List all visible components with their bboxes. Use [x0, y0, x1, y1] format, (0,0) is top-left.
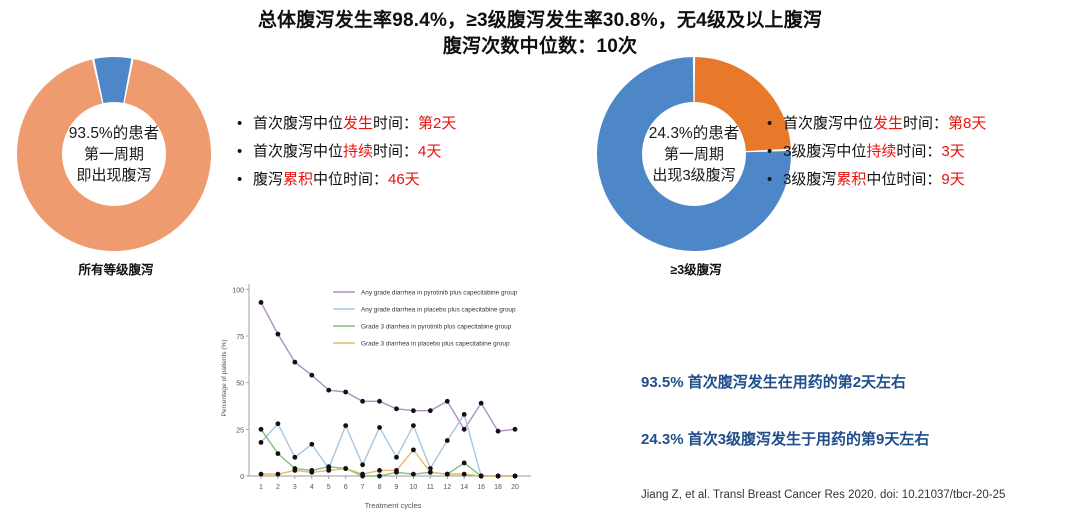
bullet-value: 9天	[941, 171, 964, 188]
data-point	[377, 474, 382, 479]
donut-all-grade-caption: 所有等级腹泻	[16, 259, 216, 278]
bullet-prefix: 3级腹泻	[783, 171, 836, 188]
bullet-text: 3级腹泻中位持续时间：3天	[783, 138, 965, 166]
bullet-middle: 时间：	[903, 115, 948, 132]
legend-label: Any grade diarrhea in placebo plus capec…	[361, 307, 516, 314]
donut-all-center-line-2: 第一周期	[84, 144, 144, 165]
bullet-keyword: 发生	[873, 115, 903, 132]
data-point	[292, 468, 297, 473]
x-tick-label: 7	[361, 484, 365, 491]
bullet-text: 3级腹泻累积中位时间：9天	[783, 166, 965, 194]
data-point	[496, 429, 501, 434]
data-point	[259, 427, 264, 432]
data-point	[309, 442, 314, 447]
bullet-middle: 中位时间：	[313, 171, 388, 188]
bullet-keyword: 持续	[343, 143, 373, 160]
donut-chart-all-grade: 93.5%的患者 第一周期 即出现腹泻 所有等级腹泻	[16, 56, 216, 278]
data-point	[428, 470, 433, 475]
data-point	[326, 388, 331, 393]
data-point	[276, 332, 281, 337]
data-point	[377, 468, 382, 473]
x-tick-label: 4	[310, 484, 314, 491]
bullet-list-all-grade: •首次腹泻中位发生时间：第2天•首次腹泻中位持续时间：4天•腹泻累积中位时间：4…	[237, 110, 456, 194]
donut-g3-center-line-1: 24.3%的患者	[649, 123, 739, 144]
x-tick-label: 8	[378, 484, 382, 491]
x-axis-label: Treatment cycles	[365, 501, 422, 510]
donut-grade3-caption: ≥3级腹泻	[596, 259, 796, 278]
data-point	[411, 472, 416, 477]
data-point	[360, 462, 365, 467]
line-chart-svg: 0255075100Percentage of patients (%)1234…	[215, 268, 545, 518]
bullet-text: 腹泻累积中位时间：46天	[253, 166, 420, 194]
x-tick-label: 3	[293, 484, 297, 491]
data-point	[259, 300, 264, 305]
data-point	[360, 399, 365, 404]
data-point	[394, 455, 399, 460]
data-point	[496, 474, 501, 479]
y-tick-label: 25	[236, 427, 244, 434]
legend-label: Grade 3 diarrhea in placebo plus capecit…	[361, 341, 510, 348]
donut-grade3-center-label: 24.3%的患者 第一周期 出现3级腹泻	[596, 56, 792, 252]
data-point	[513, 474, 518, 479]
data-point	[377, 399, 382, 404]
x-tick-label: 6	[344, 484, 348, 491]
data-point	[343, 390, 348, 395]
citation-text: Jiang Z, et al. Transl Breast Cancer Res…	[641, 489, 1005, 501]
donut-all-center-line-3: 即出现腹泻	[76, 165, 151, 186]
bullet-text: 首次腹泻中位持续时间：4天	[253, 138, 441, 166]
data-point	[411, 447, 416, 452]
x-tick-label: 10	[410, 484, 418, 491]
data-point	[276, 472, 281, 477]
x-tick-label: 1	[259, 484, 263, 491]
donut-g3-center-line-2: 第一周期	[664, 144, 724, 165]
data-point	[479, 401, 484, 406]
bullet-keyword: 发生	[343, 115, 373, 132]
x-tick-label: 2	[276, 484, 280, 491]
data-point	[292, 360, 297, 365]
data-point	[326, 468, 331, 473]
bullet-middle: 时间：	[373, 115, 418, 132]
bullet-keyword: 持续	[866, 143, 896, 160]
data-point	[292, 455, 297, 460]
series-line	[261, 302, 515, 431]
data-point	[343, 466, 348, 471]
bullet-grade3-item: •首次腹泻中位发生时间：第8天	[767, 110, 986, 138]
data-point	[394, 468, 399, 473]
data-point	[462, 472, 467, 477]
legend-label: Grade 3 diarrhea in pyrotinib plus capec…	[361, 324, 512, 331]
donut-all-grade-ring: 93.5%的患者 第一周期 即出现腹泻	[16, 56, 212, 252]
bullet-all-grade-item: •首次腹泻中位持续时间：4天	[237, 138, 456, 166]
y-tick-label: 100	[232, 287, 244, 294]
summary-note-1: 93.5% 首次腹泻发生在用药的第2天左右	[641, 371, 906, 392]
y-axis-label: Percentage of patients (%)	[221, 340, 228, 417]
data-point	[462, 427, 467, 432]
data-point	[309, 373, 314, 378]
data-point	[259, 440, 264, 445]
bullet-middle: 时间：	[373, 143, 418, 160]
bullet-keyword: 累积	[283, 171, 313, 188]
data-point	[394, 406, 399, 411]
bullet-value: 3天	[941, 143, 964, 160]
line-chart-diarrhea-by-cycle: 0255075100Percentage of patients (%)1234…	[215, 268, 545, 518]
bullet-middle: 时间：	[896, 143, 941, 160]
bullet-all-grade-item: •首次腹泻中位发生时间：第2天	[237, 110, 456, 138]
donut-all-center-line-1: 93.5%的患者	[69, 123, 159, 144]
data-point	[343, 423, 348, 428]
page-title: 总体腹泻发生率98.4%，≥3级腹泻发生率30.8%，无4级及以上腹泻 腹泻次数…	[0, 8, 1080, 60]
x-tick-label: 9	[395, 484, 399, 491]
data-point	[445, 438, 450, 443]
donut-g3-center-line-3: 出现3级腹泻	[652, 165, 735, 186]
series-line	[261, 429, 515, 476]
bullet-dot-icon: •	[767, 166, 783, 194]
data-point	[309, 470, 314, 475]
bullet-value: 第2天	[418, 115, 456, 132]
data-point	[445, 399, 450, 404]
x-tick-label: 12	[443, 484, 451, 491]
bullet-list-grade3: •首次腹泻中位发生时间：第8天•3级腹泻中位持续时间：3天•3级腹泻累积中位时间…	[767, 110, 986, 194]
data-point	[276, 451, 281, 456]
bullet-value: 4天	[418, 143, 441, 160]
bullet-dot-icon: •	[237, 138, 253, 166]
bullet-prefix: 首次腹泻中位	[783, 115, 873, 132]
series-line	[261, 414, 515, 476]
bullet-dot-icon: •	[767, 138, 783, 166]
data-point	[411, 408, 416, 413]
donut-chart-grade3: 24.3%的患者 第一周期 出现3级腹泻 ≥3级腹泻	[596, 56, 796, 278]
data-point	[462, 412, 467, 417]
x-tick-label: 16	[477, 484, 485, 491]
x-tick-label: 20	[511, 484, 519, 491]
bullet-dot-icon: •	[237, 110, 253, 138]
data-point	[513, 427, 518, 432]
bullet-prefix: 首次腹泻中位	[253, 143, 343, 160]
bullet-prefix: 3级腹泻中位	[783, 143, 866, 160]
bullet-prefix: 首次腹泻中位	[253, 115, 343, 132]
bullet-value: 第8天	[948, 115, 986, 132]
bullet-grade3-item: •3级腹泻中位持续时间：3天	[767, 138, 986, 166]
data-point	[360, 472, 365, 477]
data-point	[276, 421, 281, 426]
data-point	[377, 425, 382, 430]
slide-root: 总体腹泻发生率98.4%，≥3级腹泻发生率30.8%，无4级及以上腹泻 腹泻次数…	[0, 0, 1080, 520]
bullet-dot-icon: •	[237, 166, 253, 194]
summary-note-2: 24.3% 首次3级腹泻发生于用药的第9天左右	[641, 428, 929, 449]
bullet-value: 46天	[388, 171, 420, 188]
legend-label: Any grade diarrhea in pyrotinib plus cap…	[361, 290, 518, 297]
data-point	[479, 474, 484, 479]
bullet-all-grade-item: •腹泻累积中位时间：46天	[237, 166, 456, 194]
bullet-keyword: 累积	[836, 171, 866, 188]
donut-all-grade-center-label: 93.5%的患者 第一周期 即出现腹泻	[16, 56, 212, 252]
title-line-1: 总体腹泻发生率98.4%，≥3级腹泻发生率30.8%，无4级及以上腹泻	[0, 8, 1080, 34]
y-tick-label: 50	[236, 381, 244, 388]
x-tick-label: 11	[427, 484, 434, 491]
data-point	[428, 408, 433, 413]
x-tick-label: 5	[327, 484, 331, 491]
data-point	[462, 461, 467, 466]
bullet-dot-icon: •	[767, 110, 783, 138]
donut-grade3-ring: 24.3%的患者 第一周期 出现3级腹泻	[596, 56, 792, 252]
data-point	[411, 423, 416, 428]
y-tick-label: 75	[236, 334, 244, 341]
bullet-text: 首次腹泻中位发生时间：第2天	[253, 110, 456, 138]
x-tick-label: 18	[494, 484, 502, 491]
data-point	[259, 472, 264, 477]
y-tick-label: 0	[240, 474, 244, 481]
bullet-middle: 中位时间：	[866, 171, 941, 188]
x-tick-label: 14	[460, 484, 468, 491]
data-point	[445, 472, 450, 477]
bullet-grade3-item: •3级腹泻累积中位时间：9天	[767, 166, 986, 194]
bullet-text: 首次腹泻中位发生时间：第8天	[783, 110, 986, 138]
bullet-prefix: 腹泻	[253, 171, 283, 188]
